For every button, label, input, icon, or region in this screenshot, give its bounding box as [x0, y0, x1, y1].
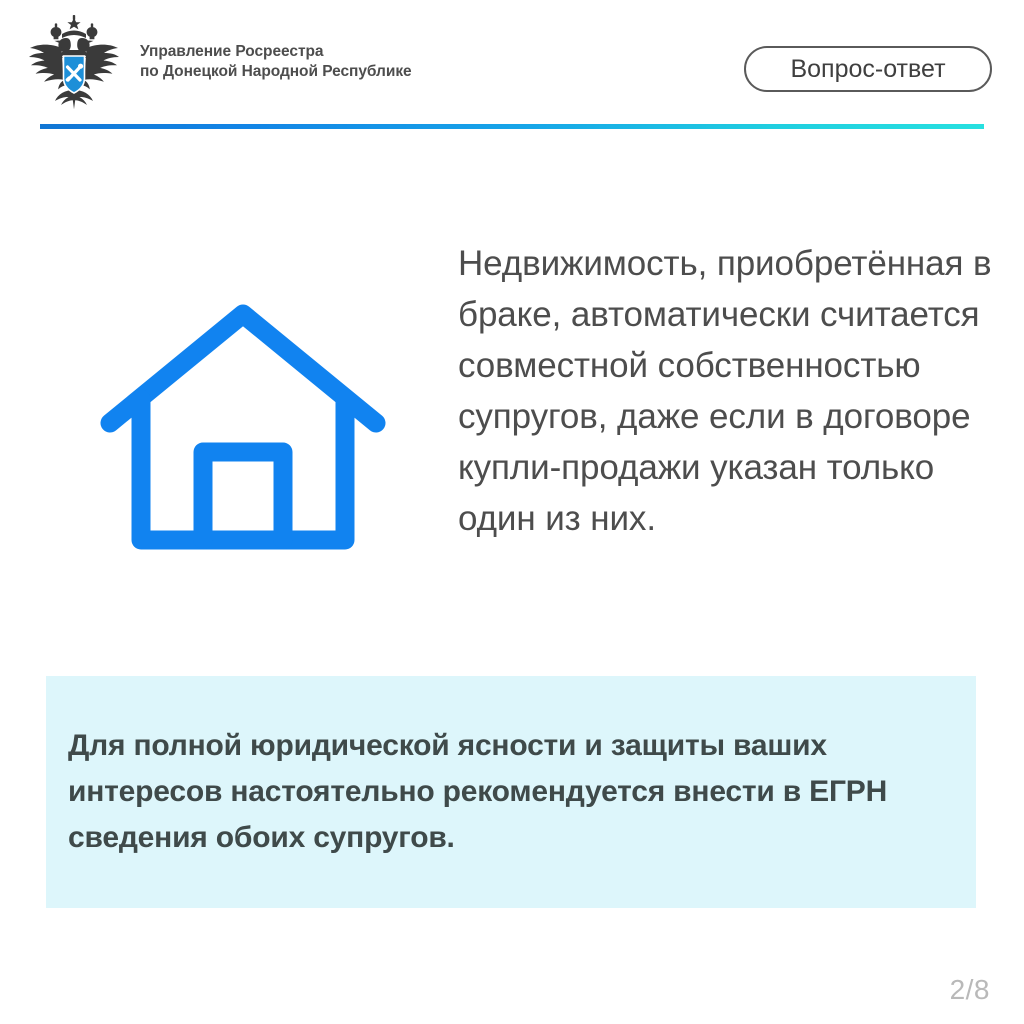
brand-block: Управление Росреестра по Донецкой Народн…	[22, 14, 412, 110]
main-content: Недвижимость, приобретённая в браке, авт…	[0, 128, 1024, 668]
topic-badge-label: Вопрос-ответ	[790, 57, 945, 82]
slide-root: Управление Росреестра по Донецкой Народн…	[0, 0, 1024, 1024]
page-counter: 2/8	[950, 974, 990, 1006]
topic-badge[interactable]: Вопрос-ответ	[744, 46, 992, 92]
double-headed-eagle-emblem-icon	[22, 14, 126, 110]
recommendation-text: Для полной юридической ясности и защиты …	[46, 723, 976, 861]
page-header: Управление Росреестра по Донецкой Народн…	[0, 0, 1024, 128]
lead-paragraph: Недвижимость, приобретённая в браке, авт…	[458, 238, 1004, 544]
organization-name: Управление Росреестра по Донецкой Народн…	[140, 42, 412, 82]
house-icon	[100, 296, 386, 558]
recommendation-callout: Для полной юридической ясности и защиты …	[46, 676, 976, 908]
